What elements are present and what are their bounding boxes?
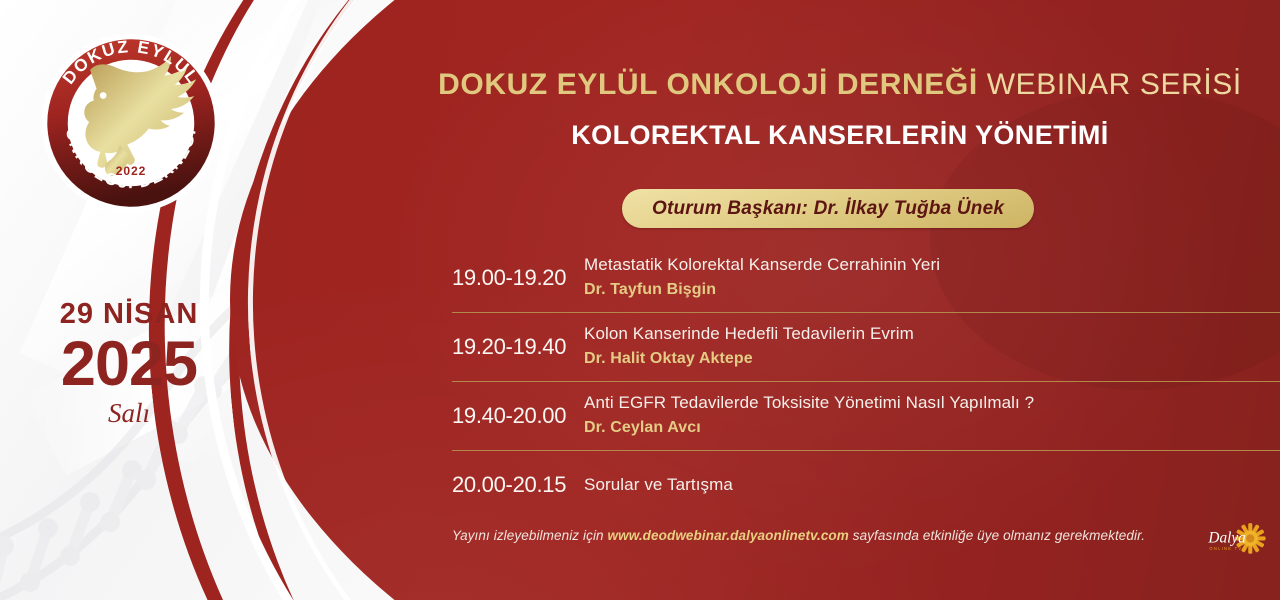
event-day-month: 29 NİSAN	[14, 300, 244, 329]
session-chair-label: Oturum Başkanı: Dr. İlkay Tuğba Ünek	[652, 198, 1004, 220]
schedule-info: Anti EGFR Tedavilerde Toksisite Yönetimi…	[576, 392, 1034, 439]
schedule-topic: Anti EGFR Tedavilerde Toksisite Yönetimi…	[584, 392, 1034, 415]
schedule-row: 19.40-20.00 Anti EGFR Tedavilerde Toksis…	[452, 382, 1280, 450]
panel-shade-blob	[1240, 0, 1280, 30]
event-weekday-text: Salı	[108, 398, 150, 428]
title-series: WEBINAR SERİSİ	[978, 68, 1242, 101]
schedule-speaker: Dr. Ceylan Avcı	[584, 417, 1034, 439]
schedule-topic: Metastatik Kolorektal Kanserde Cerrahini…	[584, 254, 940, 277]
page-title: DOKUZ EYLÜL ONKOLOJİ DERNEĞİ WEBINAR SER…	[420, 68, 1260, 102]
dokuz-eylul-onkoloji-dernegi-logo: 2022 DOKUZ EYLÜL ONKOLOJİ DERNEĞİ	[38, 30, 224, 216]
schedule-info: Kolon Kanserinde Hedefli Tedavilerin Evr…	[576, 323, 914, 370]
schedule-time: 20.00-20.15	[452, 472, 576, 498]
event-weekday-script: Salı	[14, 393, 244, 433]
footer-prefix: Yayını izleyebilmeniz için	[452, 528, 608, 543]
footer-suffix: sayfasında etkinliğe üye olmanız gerekme…	[849, 528, 1145, 543]
schedule-time: 19.40-20.00	[452, 403, 576, 429]
event-year: 2025	[14, 331, 244, 397]
page-subtitle: KOLOREKTAL KANSERLERİN YÖNETİMİ	[420, 120, 1260, 151]
schedule-row: 19.00-19.20 Metastatik Kolorektal Kanser…	[452, 244, 1280, 312]
schedule-list: 19.00-19.20 Metastatik Kolorektal Kanser…	[452, 244, 1280, 519]
event-date-block: 29 NİSAN 2025 Salı	[14, 300, 244, 438]
session-chair-badge: Oturum Başkanı: Dr. İlkay Tuğba Ünek	[622, 189, 1034, 228]
footer-note: Yayını izleyebilmeniz için www.deodwebin…	[452, 528, 1280, 543]
title-organization: DOKUZ EYLÜL ONKOLOJİ DERNEĞİ	[438, 68, 978, 101]
schedule-topic: Sorular ve Tartışma	[584, 474, 733, 497]
footer-text: Yayını izleyebilmeniz için www.deodwebin…	[452, 528, 1145, 543]
schedule-time: 19.00-19.20	[452, 265, 576, 291]
schedule-speaker: Dr. Tayfun Bişgin	[584, 279, 940, 301]
schedule-time: 19.20-19.40	[452, 334, 576, 360]
schedule-row: 20.00-20.15 Sorular ve Tartışma	[452, 451, 1280, 519]
schedule-info: Metastatik Kolorektal Kanserde Cerrahini…	[576, 254, 940, 301]
footer-url[interactable]: www.deodwebinar.dalyaonlinetv.com	[608, 528, 849, 543]
schedule-row: 19.20-19.40 Kolon Kanserinde Hedefli Ted…	[452, 313, 1280, 381]
dalya-sponsor-logo[interactable]: Dalya ONLINE TV	[1206, 518, 1268, 566]
schedule-speaker: Dr. Halit Oktay Aktepe	[584, 348, 914, 370]
schedule-info: Sorular ve Tartışma	[576, 474, 733, 497]
dalya-subtitle: ONLINE TV	[1209, 546, 1242, 551]
schedule-topic: Kolon Kanserinde Hedefli Tedavilerin Evr…	[584, 323, 914, 346]
webinar-banner: 2022 DOKUZ EYLÜL ONKOLOJİ DERNEĞİ 29 NİS…	[0, 0, 1280, 600]
dalya-wordmark: Dalya	[1207, 530, 1246, 547]
